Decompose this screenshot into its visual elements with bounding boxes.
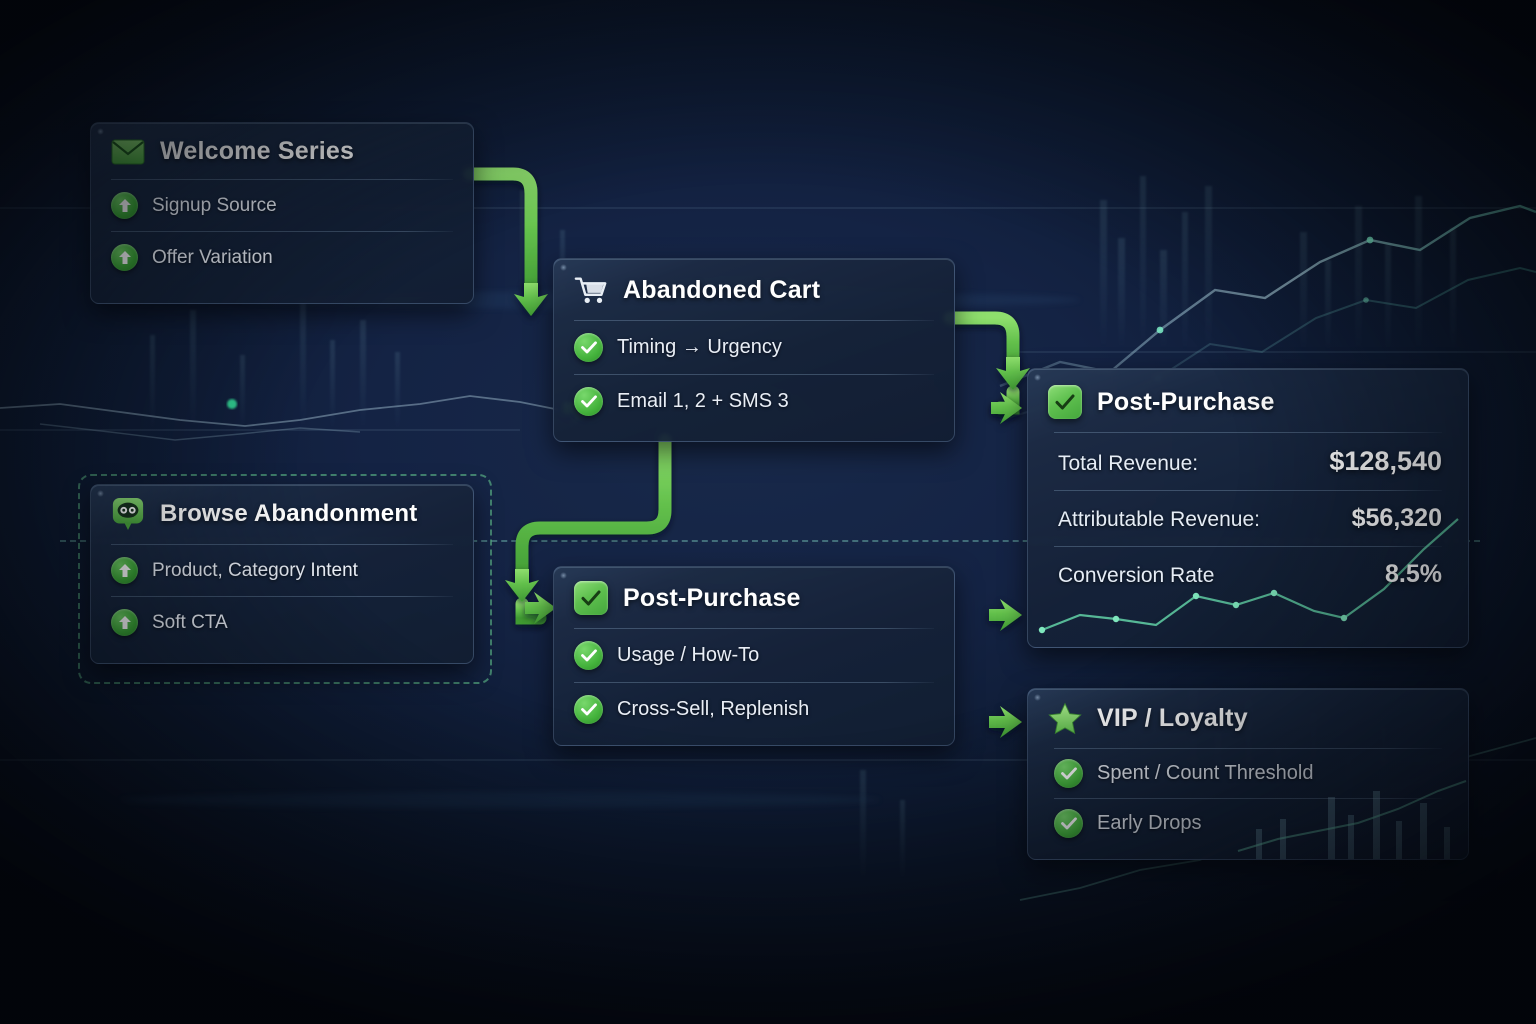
list-item[interactable]: Cross-Sell, Replenish (554, 683, 954, 736)
star-icon (1048, 701, 1082, 735)
check-circle-icon (574, 387, 603, 416)
list-item[interactable]: Email 1, 2 + SMS 3 (554, 375, 954, 428)
list-item-label: Cross-Sell, Replenish (617, 698, 809, 721)
list-item[interactable]: Soft CTA (91, 597, 473, 648)
shopping-cart-icon (574, 273, 608, 307)
metric-row: Conversion Rate 8.5% (1028, 547, 1468, 602)
card-title: VIP / Loyalty (1097, 704, 1248, 733)
card-title: Browse Abandonment (160, 500, 417, 528)
list-item-label: Email 1, 2 + SMS 3 (617, 390, 789, 413)
metric-row: Attributable Revenue: $56,320 (1028, 491, 1468, 546)
list-item-label: Usage / How-To (617, 644, 759, 667)
card-post-purchase[interactable]: Post-Purchase Usage / How-To Cross-Sell,… (553, 566, 955, 746)
list-item[interactable]: Product, Category Intent (91, 545, 473, 596)
card-header: Abandoned Cart (554, 259, 954, 320)
flow-diagram-canvas: Welcome Series Signup Source Offer Varia… (0, 0, 1536, 1024)
list-item[interactable]: Spent / Count Threshold (1028, 749, 1468, 798)
metric-label: Attributable Revenue: (1058, 508, 1260, 532)
card-title: Post-Purchase (623, 584, 801, 613)
card-vip-loyalty[interactable]: VIP / Loyalty Spent / Count Threshold Ea… (1027, 688, 1469, 860)
check-circle-icon (1054, 759, 1083, 788)
list-item-label: Spent / Count Threshold (1097, 762, 1313, 785)
metric-row: Total Revenue: $128,540 (1028, 433, 1468, 490)
list-item-label: Product, Category Intent (152, 560, 358, 582)
metric-value: 8.5% (1385, 560, 1442, 589)
list-item[interactable]: Signup Source (91, 180, 473, 231)
card-header: VIP / Loyalty (1028, 689, 1468, 748)
card-title: Abandoned Cart (623, 276, 820, 305)
metric-label: Conversion Rate (1058, 564, 1214, 588)
chat-eyes-icon (111, 497, 145, 531)
list-item[interactable]: Early Drops (1028, 799, 1468, 848)
card-header: Browse Abandonment (91, 485, 473, 544)
list-item-label: Offer Variation (152, 247, 273, 269)
check-circle-icon (1054, 809, 1083, 838)
list-item[interactable]: Offer Variation (91, 232, 473, 283)
card-header: Post-Purchase (1028, 369, 1468, 432)
list-item-label: Soft CTA (152, 612, 228, 634)
arrow-up-badge-icon (111, 609, 138, 636)
check-circle-icon (574, 695, 603, 724)
card-browse-abandonment[interactable]: Browse Abandonment Product, Category Int… (90, 484, 474, 664)
check-square-icon (1048, 385, 1082, 419)
arrow-up-badge-icon (111, 244, 138, 271)
card-title: Post-Purchase (1097, 388, 1275, 417)
check-circle-icon (574, 333, 603, 362)
list-item-label: Signup Source (152, 195, 277, 217)
check-square-icon (574, 581, 608, 615)
check-circle-icon (574, 641, 603, 670)
arrow-up-badge-icon (111, 557, 138, 584)
metric-value: $128,540 (1329, 446, 1442, 477)
card-header: Welcome Series (91, 123, 473, 179)
card-header: Post-Purchase (554, 567, 954, 628)
metric-label: Total Revenue: (1058, 452, 1198, 476)
list-item-label: Timing → Urgency (617, 336, 782, 359)
card-title: Welcome Series (160, 137, 354, 166)
list-item-label: Early Drops (1097, 812, 1201, 835)
envelope-icon (111, 139, 145, 165)
card-post-purchase-metrics[interactable]: Post-Purchase Total Revenue: $128,540 At… (1027, 368, 1469, 648)
arrow-up-badge-icon (111, 192, 138, 219)
metric-value: $56,320 (1352, 504, 1442, 533)
list-item[interactable]: Usage / How-To (554, 629, 954, 682)
list-item[interactable]: Timing → Urgency (554, 321, 954, 374)
card-welcome-series[interactable]: Welcome Series Signup Source Offer Varia… (90, 122, 474, 304)
card-abandoned-cart[interactable]: Abandoned Cart Timing → Urgency Email 1,… (553, 258, 955, 442)
